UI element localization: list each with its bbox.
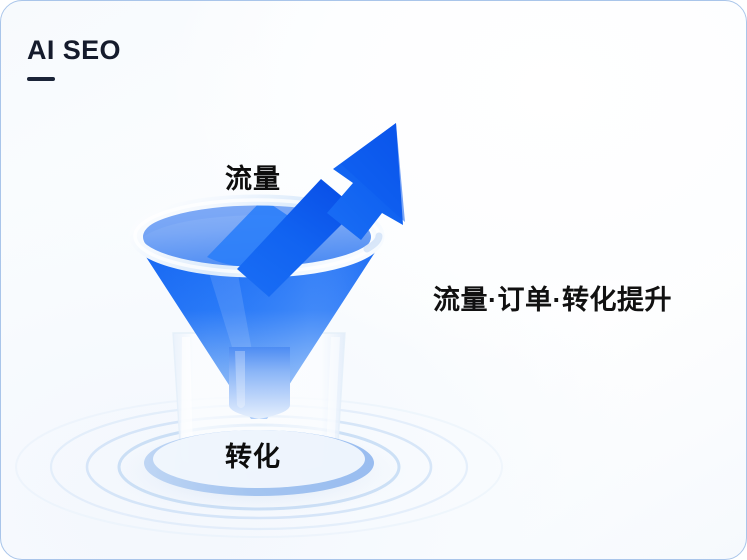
- funnel-label-conversion: 转化: [225, 435, 281, 474]
- funnel-label-traffic: 流量: [225, 157, 281, 196]
- brand-title-block: AI SEO: [27, 37, 121, 81]
- poster-canvas: AI SEO 流量·订单·转化提升 流量 转化: [0, 0, 747, 560]
- funnel-neck: [229, 347, 290, 419]
- page-title: AI SEO: [27, 37, 121, 64]
- title-underline: [27, 77, 55, 81]
- tagline-text: 流量·订单·转化提升: [433, 278, 672, 317]
